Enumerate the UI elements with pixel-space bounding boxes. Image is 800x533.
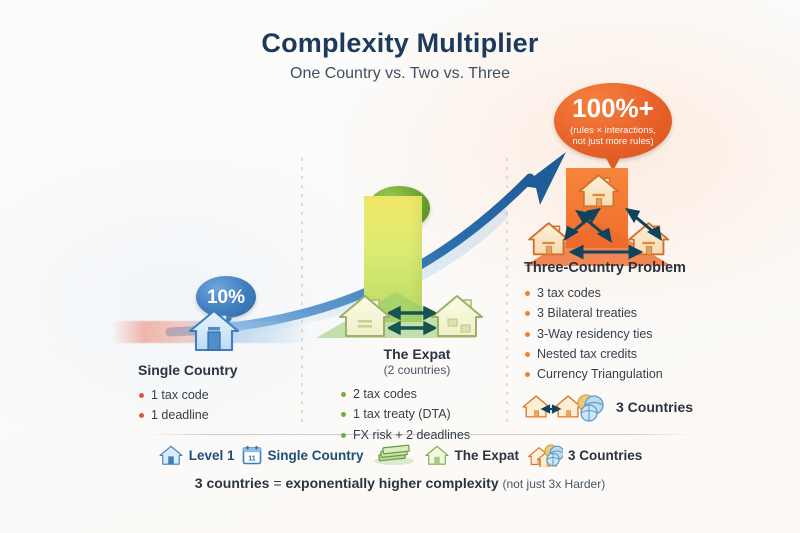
badge-level-3-value: 100%+ <box>572 95 654 121</box>
footer-note: (not just 3x Harder) <box>503 477 606 491</box>
level-3-bullets: 3 tax codes 3 Bilateral treaties 3-Way r… <box>524 283 730 384</box>
two-houses-linked-icon <box>520 392 606 422</box>
three-countries-label: 3 Countries <box>616 399 693 415</box>
level-3-text-block: Three-Country Problem 3 tax codes 3 Bila… <box>524 260 730 384</box>
legend-item-single-country[interactable]: 11 Single Country <box>242 445 363 465</box>
page-title: Complexity Multiplier <box>0 28 800 59</box>
list-item: 1 tax treaty (DTA) <box>340 404 512 424</box>
footer-lead: 3 countries <box>195 475 270 491</box>
list-item: 1 deadline <box>138 405 238 425</box>
houses-globe-icon <box>527 443 563 467</box>
list-item: Currency Triangulation <box>524 364 730 384</box>
house-blue-icon <box>158 444 184 466</box>
legend-label-three-countries: 3 Countries <box>568 448 642 463</box>
money-stack-icon <box>372 444 416 466</box>
page-subtitle: One Country vs. Two vs. Three <box>0 65 800 83</box>
footer-summary: 3 countries = exponentially higher compl… <box>0 475 800 491</box>
legend-item-level-1[interactable]: Level 1 <box>158 444 235 466</box>
house-green-icon <box>424 444 450 466</box>
level-1-heading: Single Country <box>138 362 238 378</box>
three-house-network-icon <box>520 168 730 268</box>
legend-label-single-country: Single Country <box>267 448 363 463</box>
list-item: 3 tax codes <box>524 283 730 303</box>
level-1-text-block: Single Country 1 tax code 1 deadline <box>138 362 238 426</box>
badge-level-3-note-2: not just more rules) <box>572 136 653 147</box>
legend-item-three-countries[interactable]: 3 Countries <box>527 443 642 467</box>
badge-level-1-value: 10% <box>207 288 245 307</box>
badge-level-3: 100%+ (rules × interactions, not just mo… <box>554 83 672 159</box>
divider-col-1 <box>301 158 303 426</box>
house-cream-left-icon <box>336 292 394 340</box>
level-2-subheading: (2 countries) <box>322 363 512 377</box>
legend-item-money[interactable] <box>372 444 416 466</box>
calendar-icon: 11 <box>242 445 262 465</box>
legend-label-level-1: Level 1 <box>189 448 235 463</box>
legend-item-the-expat[interactable]: The Expat <box>424 444 520 466</box>
house-cream-right-icon <box>428 292 486 340</box>
legend: Level 1 11 Single Country <box>0 443 800 467</box>
level-2-bullets: 2 tax codes 1 tax treaty (DTA) FX risk +… <box>340 384 512 445</box>
list-item: 3-Way residency ties <box>524 324 730 344</box>
badge-level-3-note-1: (rules × interactions, <box>570 125 656 136</box>
list-item: 3 Bilateral treaties <box>524 303 730 323</box>
level-2-text-block: The Expat (2 countries) 2 tax codes 1 ta… <box>322 346 512 445</box>
calendar-day-number: 11 <box>249 455 257 462</box>
footer-rest: exponentially higher complexity <box>285 475 498 491</box>
list-item: 2 tax codes <box>340 384 512 404</box>
level-3-heading: Three-Country Problem <box>524 260 730 276</box>
list-item: FX risk + 2 deadlines <box>340 425 512 445</box>
legend-label-the-expat: The Expat <box>455 448 520 463</box>
level-2-heading: The Expat <box>322 346 512 362</box>
house-blue-icon <box>186 306 242 354</box>
infographic-canvas: Complexity Multiplier One Country vs. Tw… <box>0 0 800 533</box>
level-1-bullets: 1 tax code 1 deadline <box>138 385 238 426</box>
list-item: Nested tax credits <box>524 344 730 364</box>
three-countries-summary: 3 Countries <box>520 392 693 422</box>
footer-equals: = <box>273 475 281 491</box>
list-item: 1 tax code <box>138 385 238 405</box>
